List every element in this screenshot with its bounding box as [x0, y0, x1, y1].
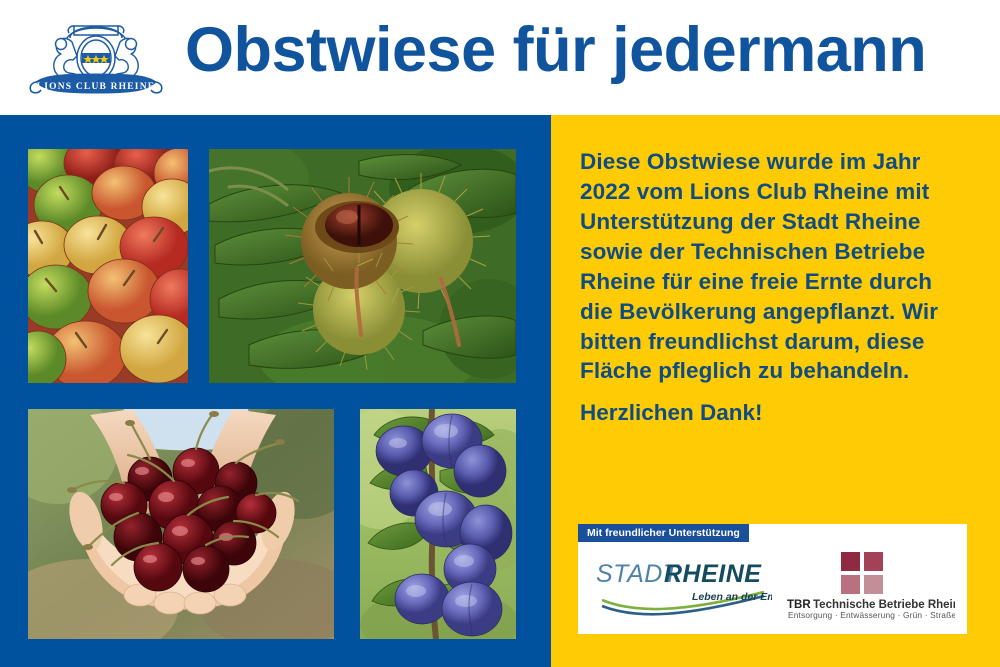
photo-chestnut	[209, 149, 516, 383]
photo-cherries	[28, 409, 334, 639]
plums-image	[360, 409, 516, 639]
lions-banner-text: LIONS CLUB RHEINE	[37, 82, 156, 92]
sponsor-banner-label: Mit freundlicher Unterstützung	[578, 524, 749, 542]
cherries-image	[28, 409, 334, 639]
photo-plums	[360, 409, 516, 639]
tbr-square-3	[841, 575, 860, 594]
poster-root: LIONS CLUB RHEINE Obstwiese für jederman…	[0, 0, 1000, 667]
stadt-tagline: Leben an der Ems	[692, 591, 772, 603]
apples-image	[28, 149, 188, 383]
tbr-services: Entsorgung · Entwässerung · Grün · Straß…	[788, 610, 955, 620]
tbr-square-1	[841, 552, 860, 571]
poster-header: LIONS CLUB RHEINE Obstwiese für jederman…	[0, 0, 1000, 115]
chestnut-image	[209, 149, 516, 383]
sponsor-box: Mit freundlicher Unterstützung STADT RHE…	[578, 524, 967, 634]
lions-club-rheine-logo: LIONS CLUB RHEINE	[22, 12, 170, 104]
photo-apples	[28, 149, 188, 383]
tbr-square-4	[864, 575, 883, 594]
stadt-rheine-logo: STADT RHEINE Leben an der Ems	[592, 552, 772, 618]
tbr-logo: TBR Technische Betriebe Rheine Entsorgun…	[783, 550, 955, 620]
tbr-square-2	[864, 552, 883, 571]
lions-crest-icon: LIONS CLUB RHEINE	[22, 12, 170, 104]
stadt-rheine-logo-icon: STADT RHEINE Leben an der Ems	[592, 552, 772, 618]
stadt-word-bold: RHEINE	[664, 560, 762, 588]
notice-body-text: Diese Obstwiese wurde im Jahr 2022 vom L…	[580, 147, 965, 386]
notice-thanks-text: Herzlichen Dank!	[580, 400, 965, 426]
tbr-logo-icon: TBR Technische Betriebe Rheine Entsorgun…	[783, 550, 955, 620]
page-title: Obstwiese für jedermann	[185, 17, 995, 83]
